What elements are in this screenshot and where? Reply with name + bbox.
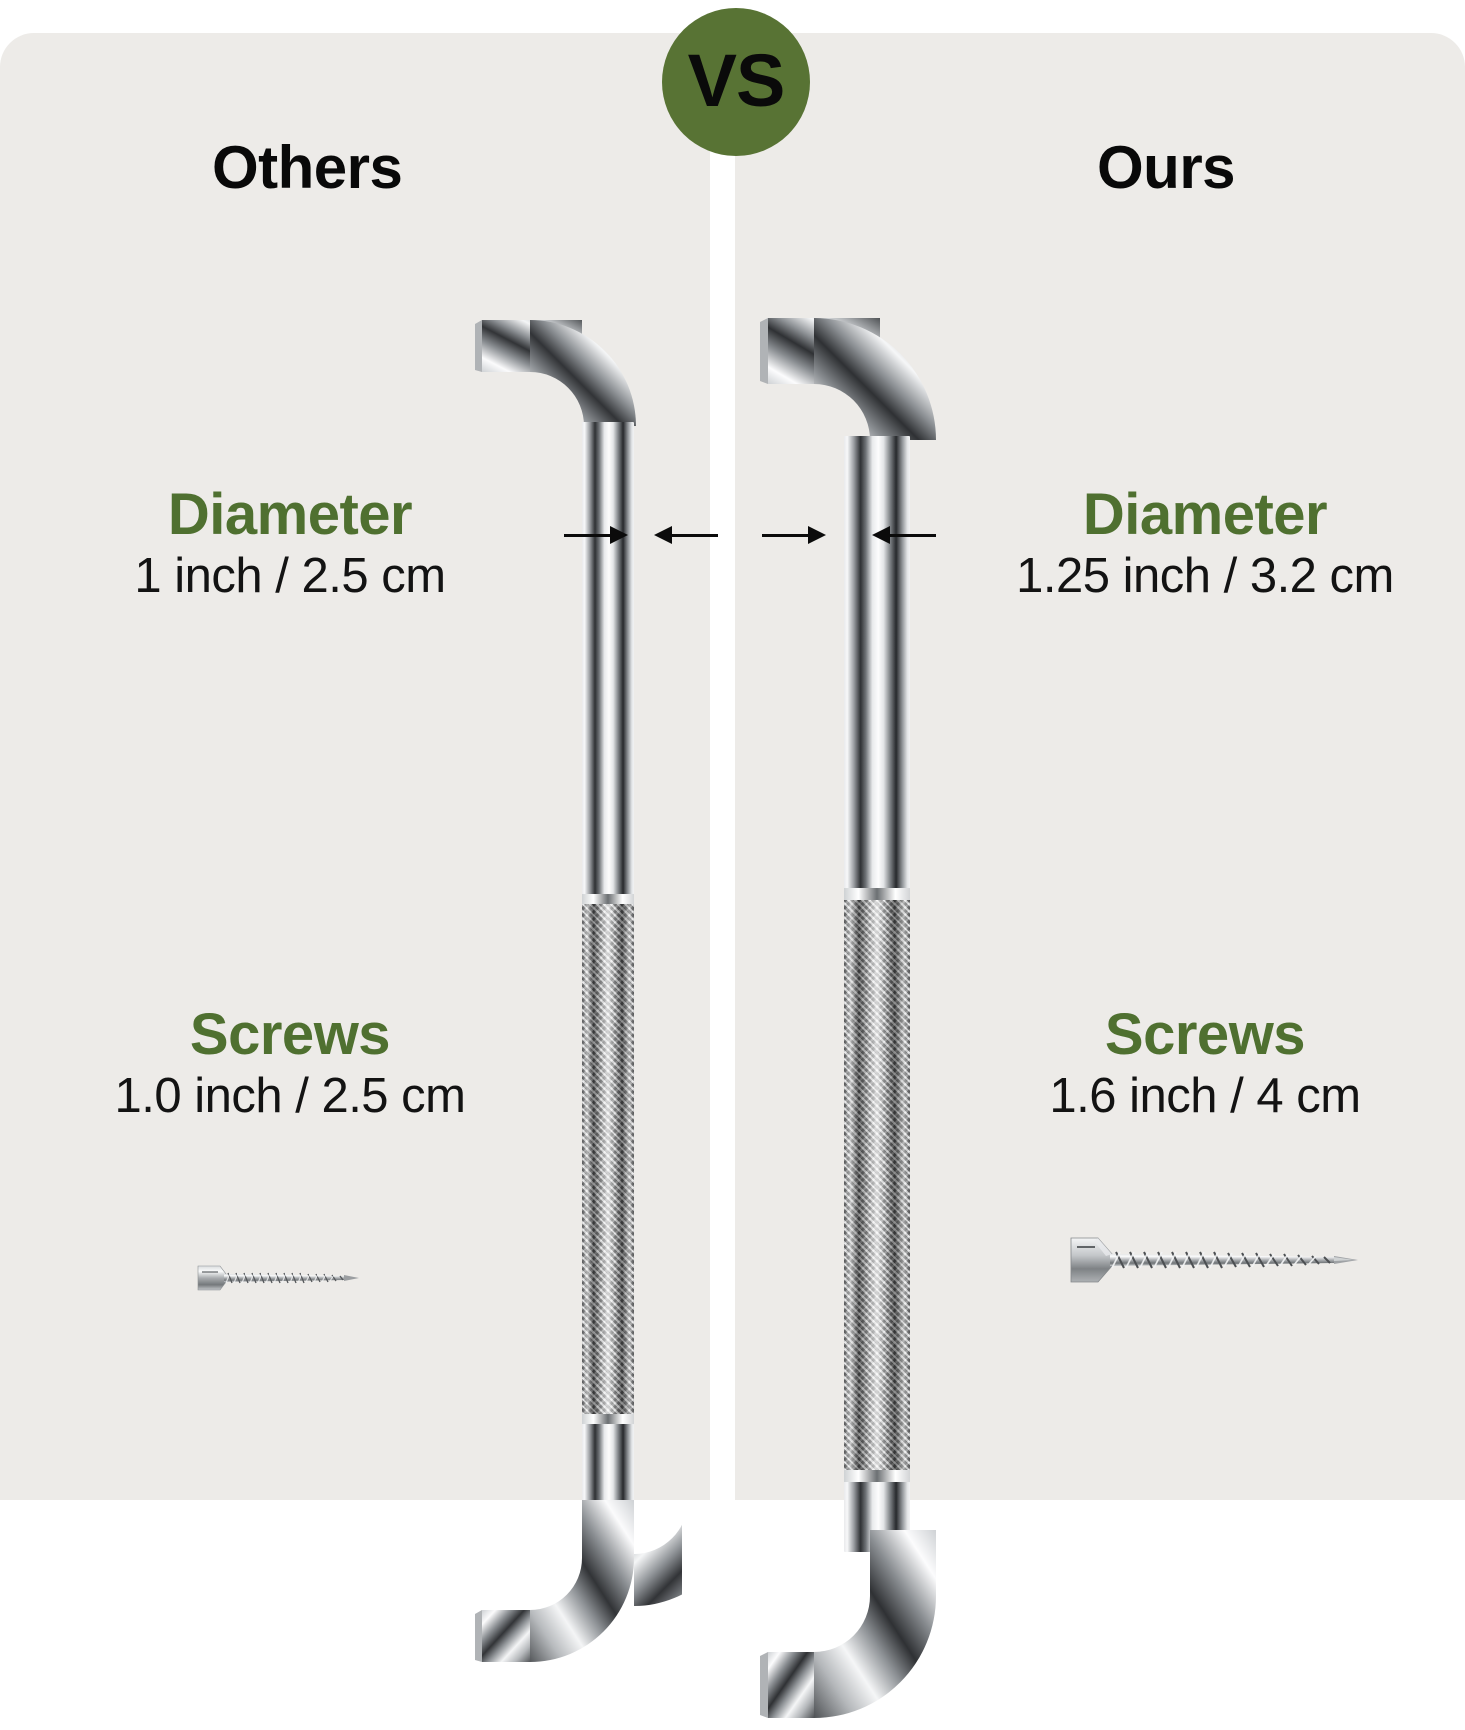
- diameter-arrow-others-left: [564, 527, 628, 543]
- grip-collar-top: [844, 888, 910, 900]
- column-heading-ours: Ours: [1097, 133, 1235, 202]
- grab-bar-ours: [760, 300, 1035, 1420]
- grip-collar-bottom: [582, 1414, 634, 1424]
- arrow-shaft: [762, 534, 808, 537]
- arrow-right-icon: [808, 526, 826, 544]
- arrow-right-icon: [610, 526, 628, 544]
- arrow-left-icon: [872, 526, 890, 544]
- grab-bar-top-elbow: [442, 300, 682, 550]
- screw-others: [196, 1258, 366, 1302]
- knurled-grip-others: [582, 904, 634, 1414]
- versus-badge: VS: [662, 8, 810, 156]
- spec-others-screws: Screws 1.0 inch / 2.5 cm: [40, 1004, 540, 1126]
- screw-ours: [1068, 1232, 1368, 1296]
- comparison-infographic: Others Ours VS Diameter 1 inch / 2.5 cm …: [0, 0, 1465, 1500]
- grab-bar-others: [470, 300, 710, 1420]
- arrow-shaft: [890, 534, 936, 537]
- diameter-arrow-ours-left: [762, 527, 826, 543]
- column-heading-others: Others: [212, 133, 402, 202]
- grip-collar-top: [582, 894, 634, 904]
- grab-bar-bottom-elbow: [730, 1530, 990, 1730]
- knurled-grip-ours: [844, 900, 910, 1470]
- arrow-left-icon: [654, 526, 672, 544]
- diameter-arrow-others-right: [654, 527, 718, 543]
- grab-bar-bottom-elbow: [442, 1500, 682, 1690]
- grip-collar-bottom: [844, 1470, 910, 1482]
- spec-value: 1 inch / 2.5 cm: [40, 547, 540, 607]
- grab-bar-upper-tube: [582, 422, 634, 902]
- arrow-shaft: [564, 534, 610, 537]
- diameter-arrow-ours-right: [872, 527, 936, 543]
- arrow-shaft: [672, 534, 718, 537]
- spec-title: Screws: [40, 1004, 540, 1067]
- versus-label: VS: [688, 44, 785, 118]
- grab-bar-upper-tube: [844, 436, 910, 896]
- spec-value: 1.0 inch / 2.5 cm: [40, 1067, 540, 1127]
